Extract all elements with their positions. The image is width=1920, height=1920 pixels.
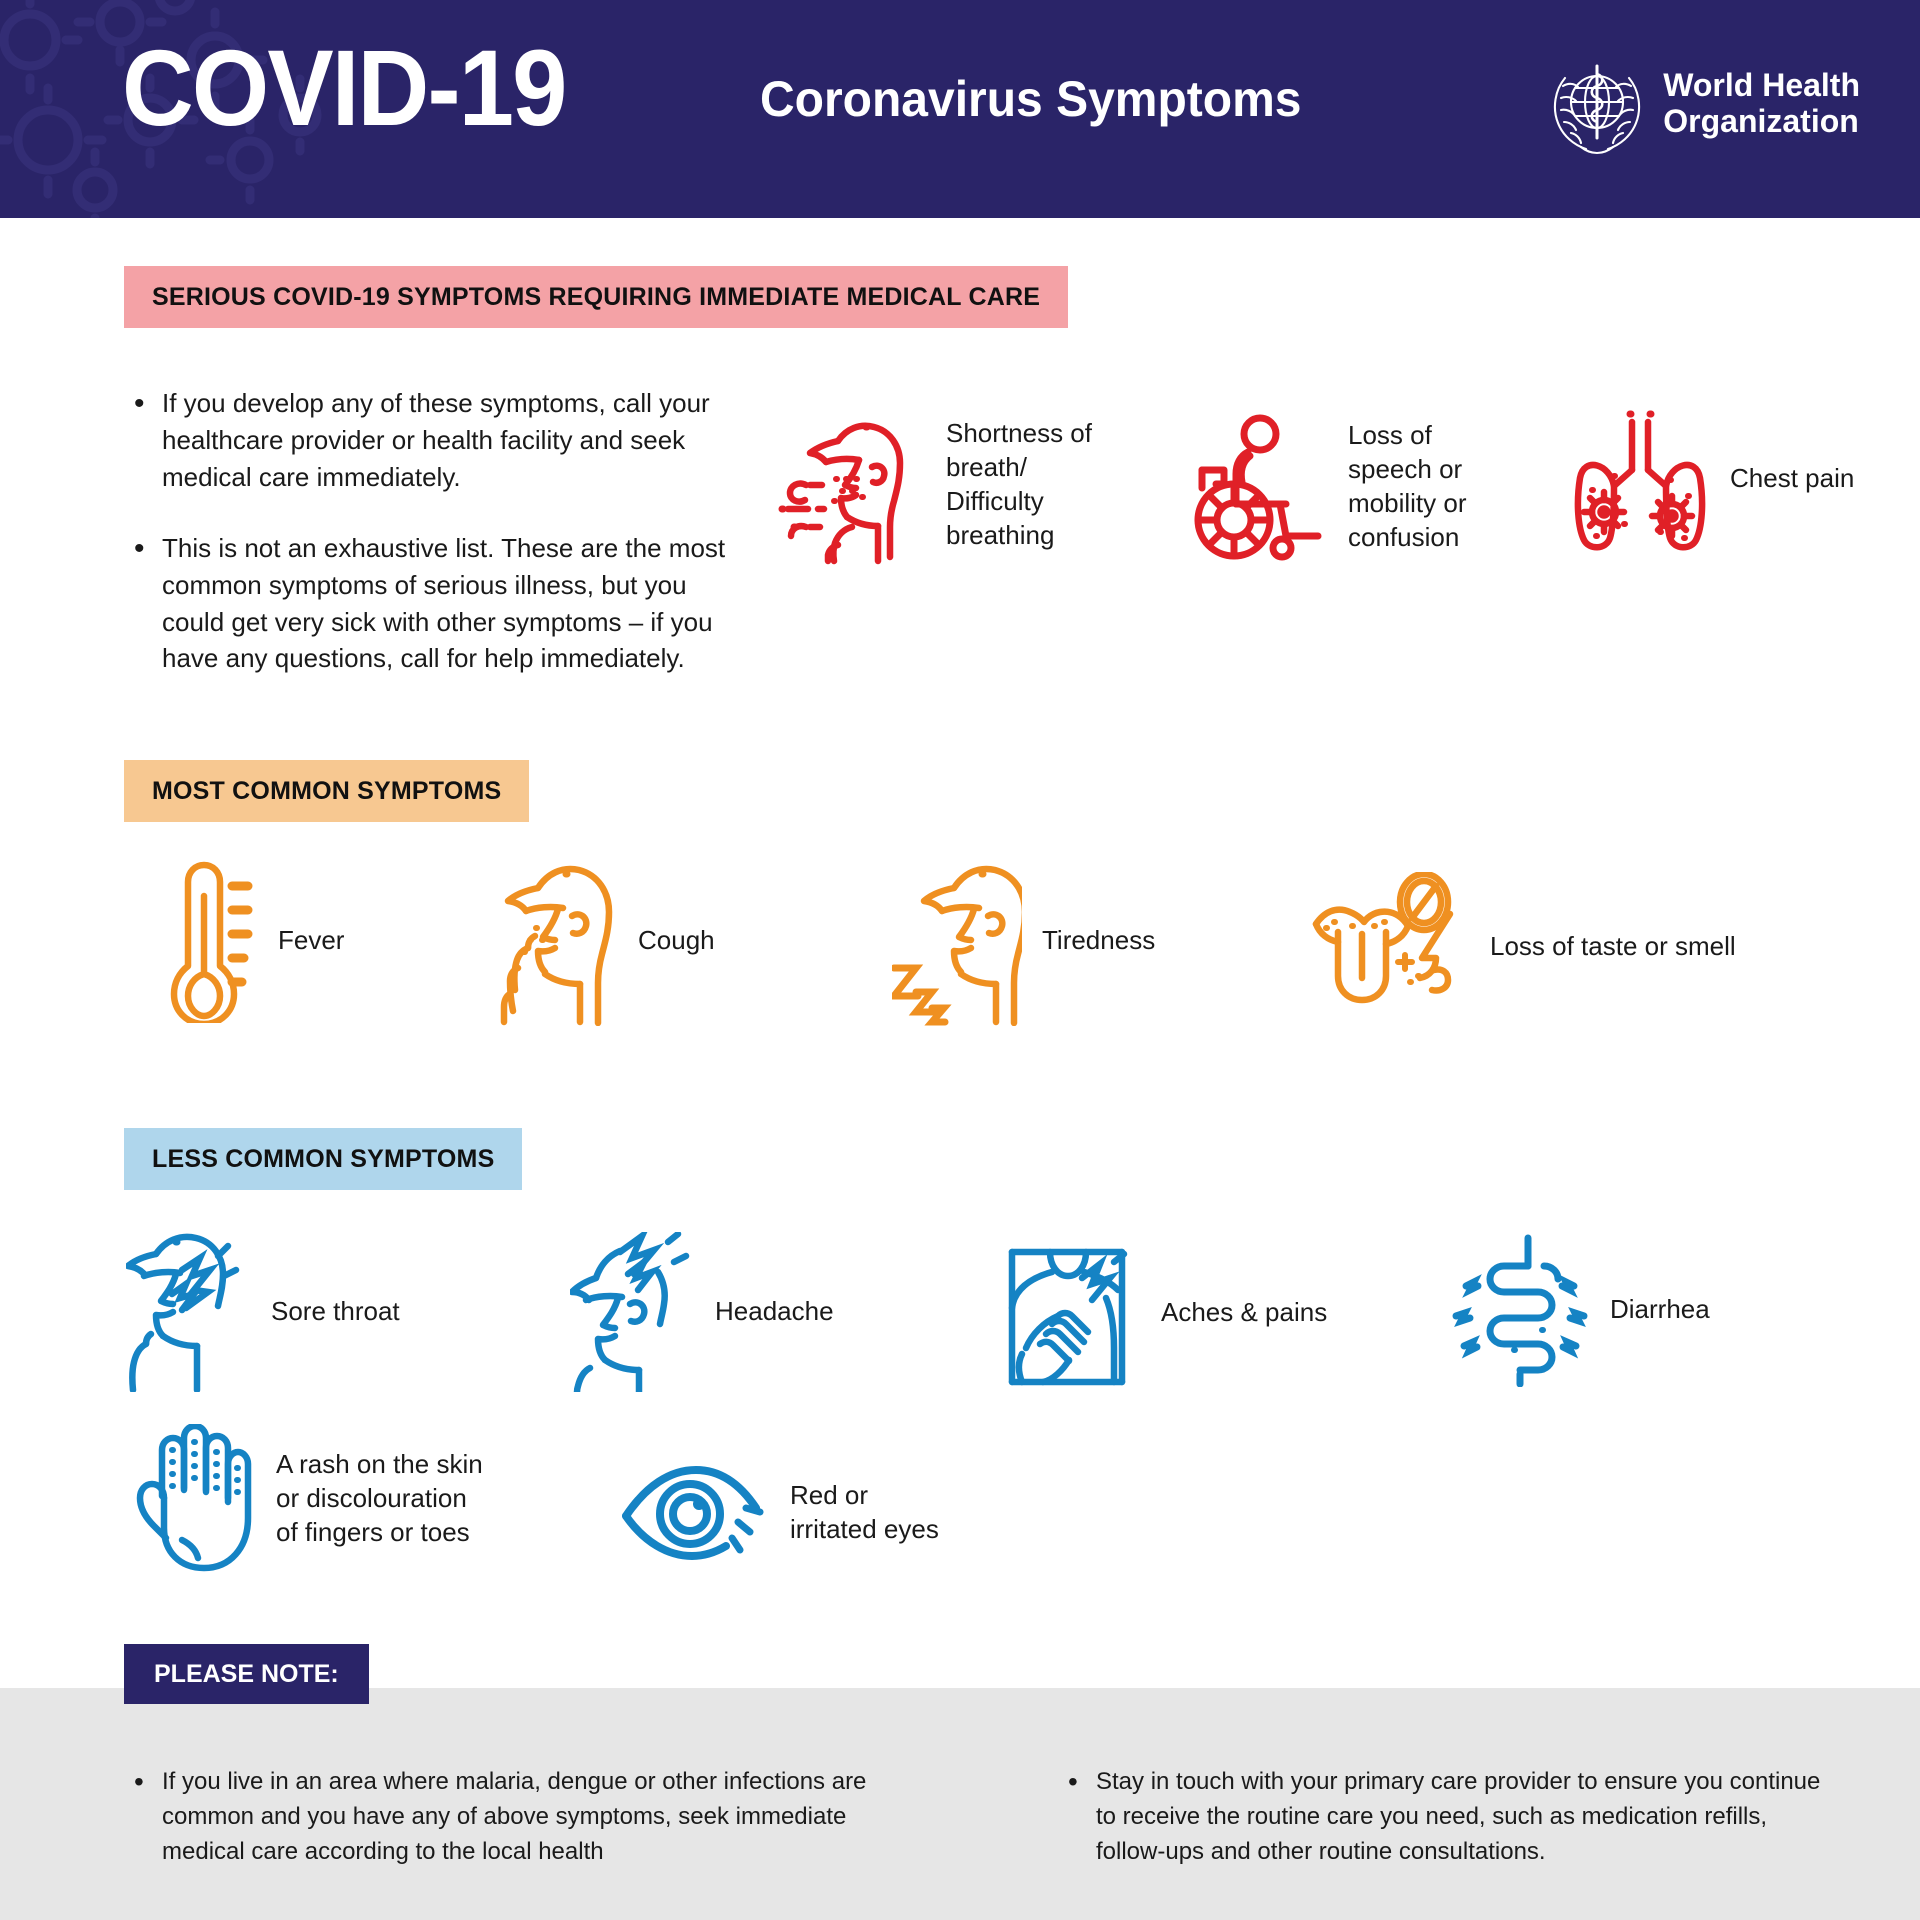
intestines-icon	[1450, 1232, 1590, 1387]
list-item: If you live in an area where malaria, de…	[128, 1765, 868, 1869]
wheelchair-icon	[1188, 412, 1328, 562]
tongue-nose-blocked-icon	[1300, 872, 1470, 1022]
symptom-label: Diarrhea	[1610, 1293, 1710, 1327]
less-common-symptoms-banner: LESS COMMON SYMPTOMS	[124, 1128, 522, 1190]
symptom-shortness-of-breath: Shortness of breath/ Difficulty breathin…	[776, 405, 1092, 565]
hand-rash-icon	[126, 1424, 256, 1574]
symptom-chest-pain: Chest pain	[1570, 404, 1854, 554]
symptom-tiredness: Tiredness	[892, 856, 1155, 1026]
footer-left-list: If you live in an area where malaria, de…	[128, 1765, 868, 1869]
symptom-label: Loss of taste or smell	[1490, 930, 1736, 964]
list-item: This is not an exhaustive list. These ar…	[128, 530, 728, 678]
coughing-person-icon	[488, 856, 618, 1026]
symptom-sore-throat: Sore throat	[126, 1232, 400, 1392]
symptom-cough: Cough	[488, 856, 715, 1026]
who-logo: World Health Organization	[1545, 52, 1860, 156]
who-line-1: World Health	[1663, 68, 1860, 104]
list-item: Stay in touch with your primary care pro…	[1062, 1765, 1822, 1869]
symptom-skin-rash: A rash on the skin or discolouration of …	[126, 1424, 483, 1574]
who-emblem-icon	[1545, 52, 1649, 156]
symptom-label: Red or irritated eyes	[790, 1479, 939, 1547]
most-common-symptoms-banner: MOST COMMON SYMPTOMS	[124, 760, 529, 822]
symptom-aches-and-pains: Aches & pains	[996, 1238, 1327, 1388]
sleeping-person-icon	[892, 856, 1022, 1026]
page-title: COVID-19	[122, 34, 566, 142]
symptom-label: Loss of speech or mobility or confusion	[1348, 419, 1466, 554]
page-header: COVID-19 Coronavirus Symptoms	[0, 0, 1920, 218]
sore-throat-icon	[126, 1232, 251, 1392]
symptom-label: Shortness of breath/ Difficulty breathin…	[946, 417, 1092, 552]
lungs-virus-icon	[1570, 404, 1710, 554]
symptom-label: Sore throat	[271, 1295, 400, 1329]
symptom-label: Chest pain	[1730, 462, 1854, 496]
symptom-label: Cough	[638, 924, 715, 958]
footer-right-list: Stay in touch with your primary care pro…	[1062, 1765, 1822, 1869]
symptom-red-irritated-eyes: Red or irritated eyes	[620, 1460, 939, 1565]
please-note-label: PLEASE NOTE:	[124, 1644, 369, 1704]
symptom-headache: Headache	[570, 1232, 834, 1392]
irritated-eye-icon	[620, 1460, 770, 1565]
serious-symptoms-banner: SERIOUS COVID-19 SYMPTOMS REQUIRING IMME…	[124, 266, 1068, 328]
thermometer-icon	[148, 858, 258, 1023]
symptom-label: Aches & pains	[1161, 1296, 1327, 1330]
page-subtitle: Coronavirus Symptoms	[760, 74, 1301, 124]
breathing-difficulty-icon	[776, 405, 926, 565]
who-line-2: Organization	[1663, 104, 1860, 140]
symptom-label: A rash on the skin or discolouration of …	[276, 1448, 483, 1549]
headache-icon	[570, 1232, 695, 1392]
body-aches-icon	[996, 1238, 1141, 1388]
symptom-loss-of-taste-or-smell: Loss of taste or smell	[1300, 872, 1736, 1022]
list-item: If you develop any of these symptoms, ca…	[128, 385, 728, 496]
serious-bullet-list: If you develop any of these symptoms, ca…	[128, 385, 728, 677]
symptom-label: Headache	[715, 1295, 834, 1329]
symptom-diarrhea: Diarrhea	[1450, 1232, 1710, 1387]
who-name: World Health Organization	[1663, 68, 1860, 140]
symptom-loss-of-speech-mobility: Loss of speech or mobility or confusion	[1188, 412, 1466, 562]
symptom-fever: Fever	[148, 858, 344, 1023]
symptom-label: Fever	[278, 924, 344, 958]
symptom-label: Tiredness	[1042, 924, 1155, 958]
